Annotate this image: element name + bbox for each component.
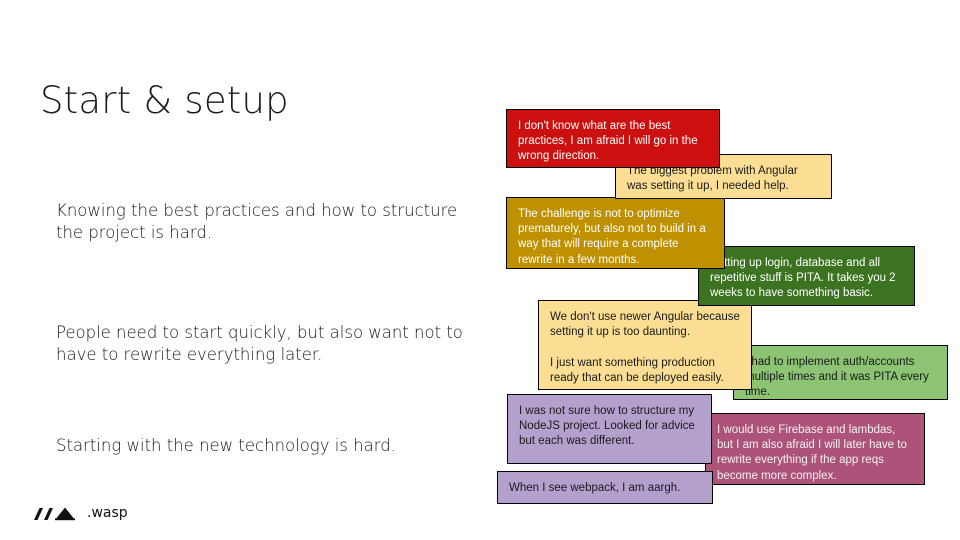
quote-best-practices: I don't know what are the best practices… [506,109,720,168]
slide-canvas: Start & setup Knowing the best practices… [0,0,960,540]
quote-nodejs-structure: I was not sure how to structure my NodeJ… [507,394,712,464]
footer-logo-text: .wasp [87,506,128,520]
left-point-1: People need to start quickly, but also w… [56,322,486,366]
quote-premature-optimize: The challenge is not to optimize prematu… [506,197,725,269]
quote-webpack: When I see webpack, I am aargh. [497,471,713,504]
quote-firebase-lambdas: I would use Firebase and lambdas, but I … [705,413,925,485]
page-title: Start & setup [40,79,289,122]
wasp-mountain-logo-icon [26,503,80,523]
left-point-2: Starting with the new technology is hard… [56,435,486,457]
quote-login-pita: Setting up login, database and all repet… [698,246,915,306]
left-point-0: Knowing the best practices and how to st… [56,200,486,244]
footer-logo: .wasp [26,503,128,523]
quote-newer-angular: We don't use newer Angular because setti… [538,300,752,390]
quote-auth-accounts: I had to implement auth/accounts multipl… [733,345,948,400]
